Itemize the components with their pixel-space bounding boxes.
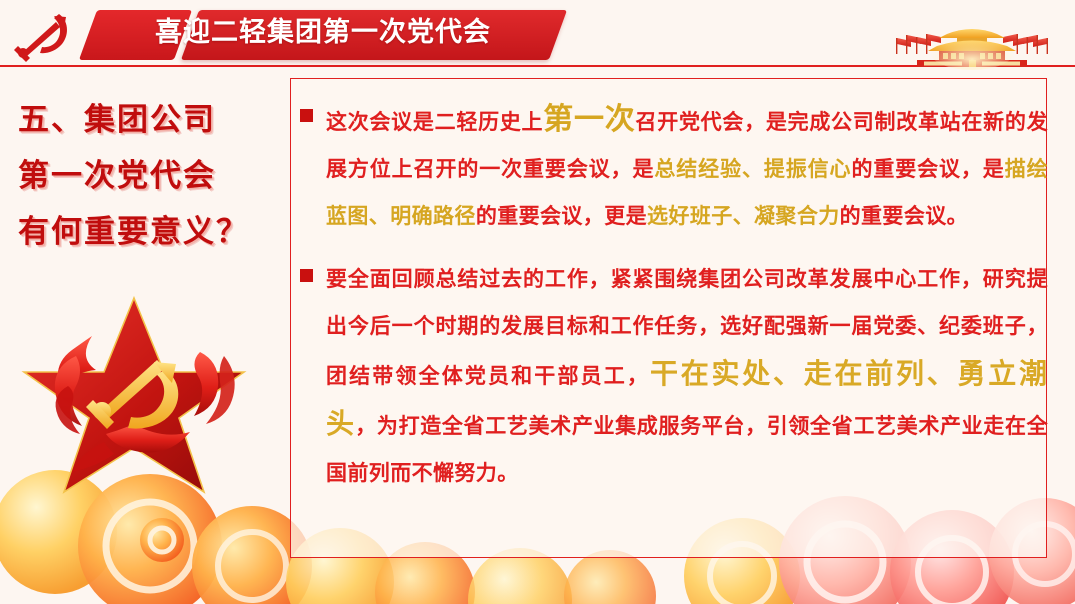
text-segment: 的重要会议。: [840, 205, 968, 228]
page-title-line-1: 五、集团公司: [18, 92, 280, 148]
bullet-paragraph-1: 这次会议是二轻历史上第一次召开党代会，是完成公司制改革站在新的发展方位上召开的一…: [326, 96, 1048, 240]
tiananmen-gate-icon: [877, 22, 1067, 70]
page-title-line-2: 第一次党代会: [18, 148, 280, 204]
text-segment: 第一次: [543, 103, 635, 136]
text-segment: 的重要会议，更是: [476, 205, 647, 228]
list-item: 这次会议是二轻历史上第一次召开党代会，是完成公司制改革站在新的发展方位上召开的一…: [300, 96, 1048, 240]
text-segment: 总结经验、提振信心: [654, 158, 851, 181]
party-hammer-sickle-icon: [10, 8, 82, 66]
bullet-paragraph-2: 要全面回顾总结过去的工作，紧紧围绕集团公司改革发展中心工作，研究提出今后一个时期…: [326, 256, 1048, 497]
slide-canvas: 喜迎二轻集团第一次党代会: [0, 0, 1075, 604]
square-bullet-icon: [300, 269, 313, 282]
page-title: 五、集团公司 第一次党代会 有何重要意义？: [18, 92, 280, 260]
text-segment: 选好班子、凝聚合力: [647, 205, 840, 228]
list-item: 要全面回顾总结过去的工作，紧紧围绕集团公司改革发展中心工作，研究提出今后一个时期…: [300, 256, 1048, 497]
text-segment: ，为打造全省工艺美术产业集成服务平台，引领全省工艺美术产业走在全国前列而不懈努力…: [326, 415, 1048, 485]
page-title-line-3: 有何重要意义？: [18, 204, 280, 260]
bullet-list: 这次会议是二轻历史上第一次召开党代会，是完成公司制改革站在新的发展方位上召开的一…: [300, 96, 1048, 497]
text-segment: 这次会议是二轻历史上: [326, 111, 543, 134]
text-segment: 的重要会议，是: [851, 158, 1004, 181]
red-star-hammer-sickle-ribbon-icon: [18, 290, 268, 520]
square-bullet-icon: [300, 109, 313, 122]
banner-title: 喜迎二轻集团第一次党代会: [155, 10, 491, 49]
